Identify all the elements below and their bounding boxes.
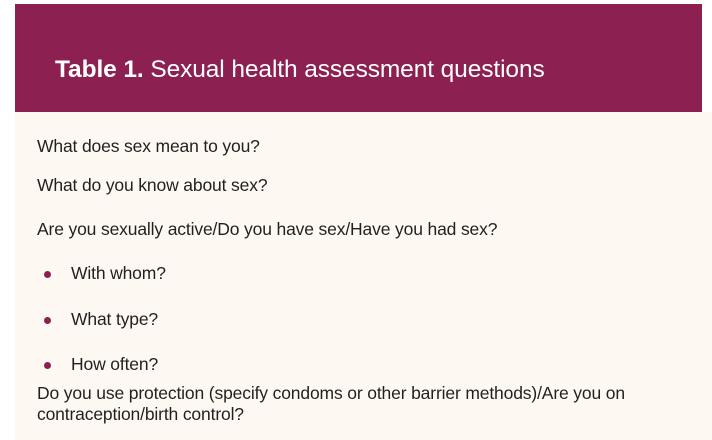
sub-question-item: With whom? (37, 263, 706, 284)
sub-question-label: What type? (71, 309, 158, 329)
question-item: What does sex mean to you? (37, 136, 706, 157)
question-item-truncated: Do you use protection (specify condoms o… (37, 383, 706, 425)
sub-question-label: How often? (71, 354, 158, 374)
bullet-dot-icon (44, 271, 51, 278)
table-title-label: Sexual health assessment questions (150, 56, 544, 83)
sub-question-label: With whom? (71, 263, 166, 283)
question-list: What does sex mean to you? What do you k… (15, 112, 712, 440)
bullet-dot-icon (44, 317, 51, 324)
bullet-dot-icon (44, 362, 51, 369)
question-item: Are you sexually active/Do you have sex/… (37, 219, 706, 240)
table-caption: Table 1. Sexual health assessment questi… (55, 57, 545, 84)
sub-question-item: How often? (37, 354, 706, 375)
table-figure: Table 1. Sexual health assessment questi… (0, 0, 712, 440)
sub-question-item: What type? (37, 309, 706, 330)
table-number-label: Table 1. (55, 56, 144, 83)
question-item: What do you know about sex? (37, 175, 706, 196)
table-header-band: Table 1. Sexual health assessment questi… (15, 4, 702, 112)
